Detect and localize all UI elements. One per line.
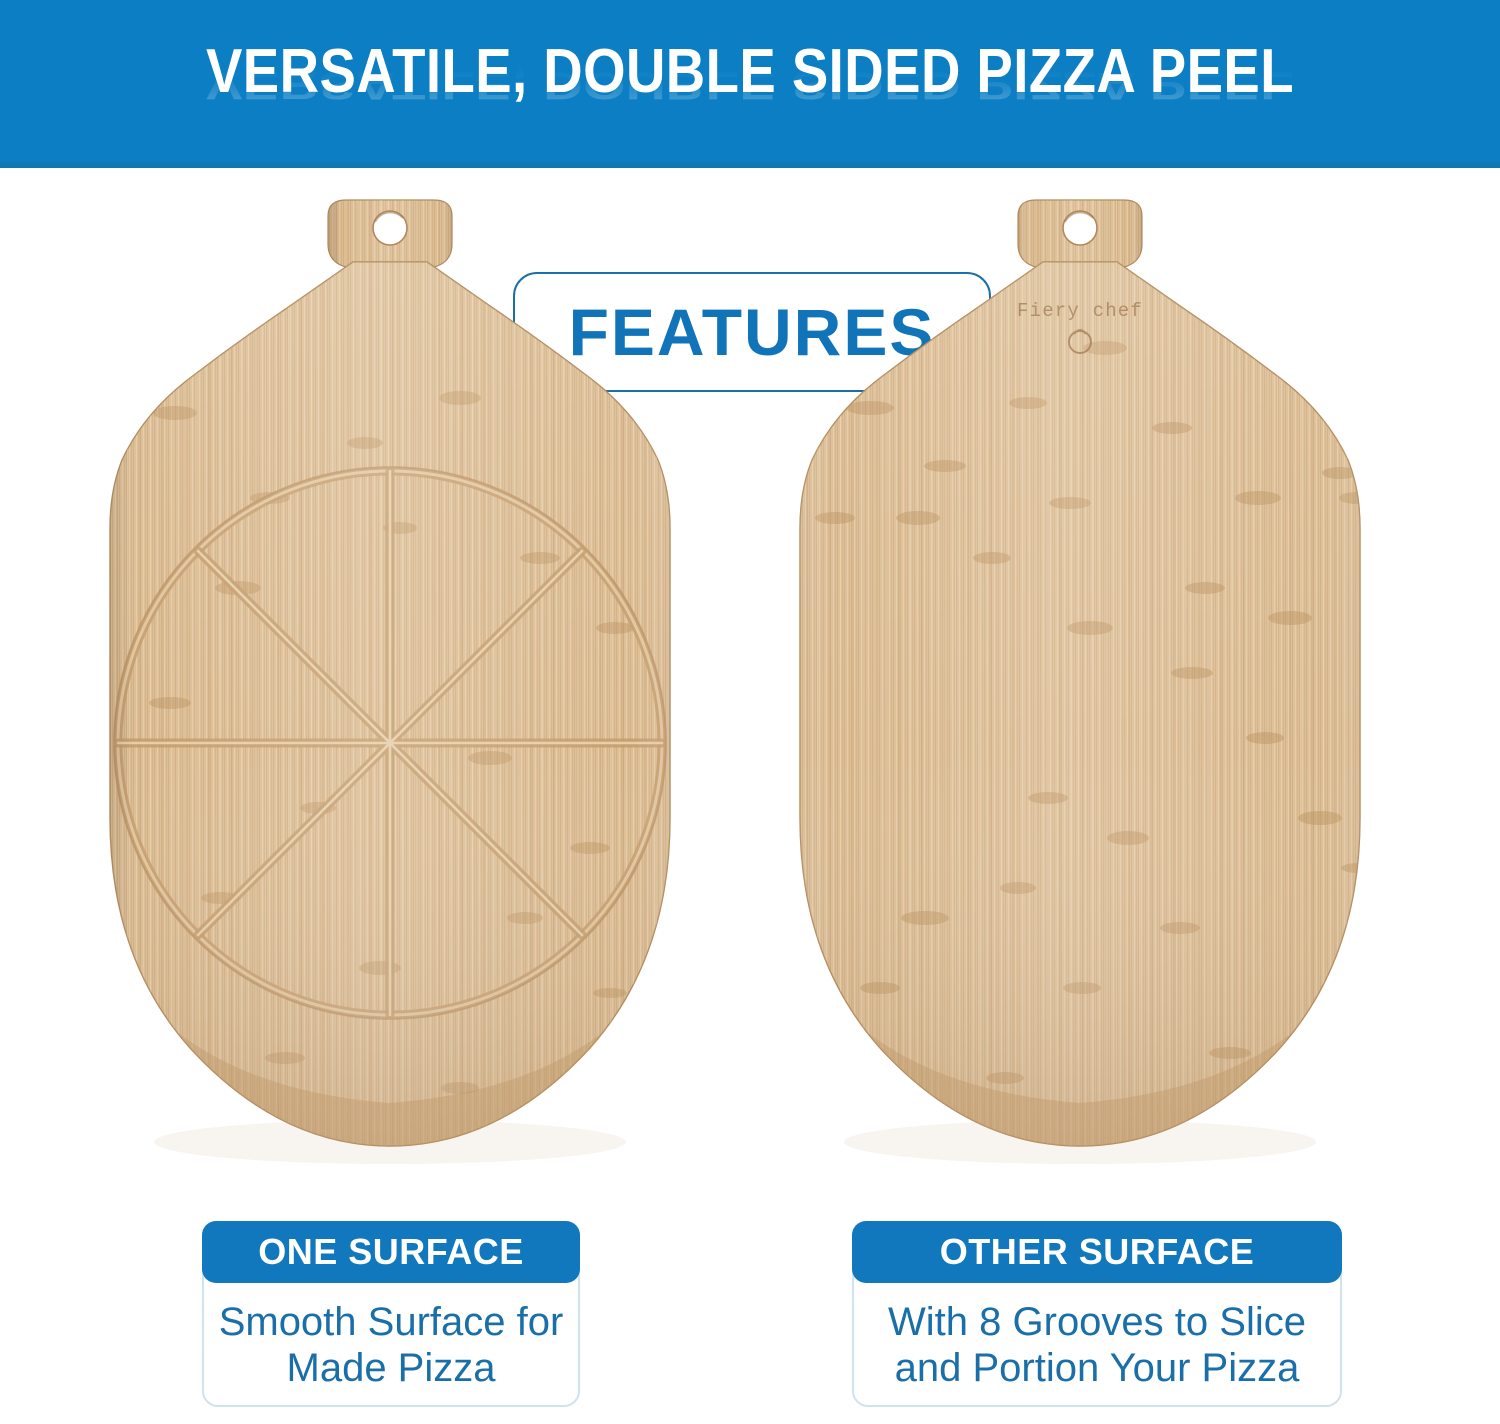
- product-image-stage: Fiery chef: [0, 168, 1500, 1208]
- header-banner: VERSATILE, DOUBLE SIDED PIZZA PEEL VERSA…: [0, 0, 1500, 168]
- caption-header-label: ONE SURFACE: [202, 1221, 580, 1283]
- board-body-left: [70, 198, 710, 1208]
- board-body-right: Fiery chef: [760, 198, 1400, 1208]
- product-image-grooved-board: [70, 198, 710, 1208]
- banner-title: VERSATILE, DOUBLE SIDED PIZZA PEEL: [90, 38, 1410, 106]
- caption-header-label: OTHER SURFACE: [852, 1221, 1342, 1283]
- product-image-smooth-board: Fiery chef: [760, 198, 1400, 1208]
